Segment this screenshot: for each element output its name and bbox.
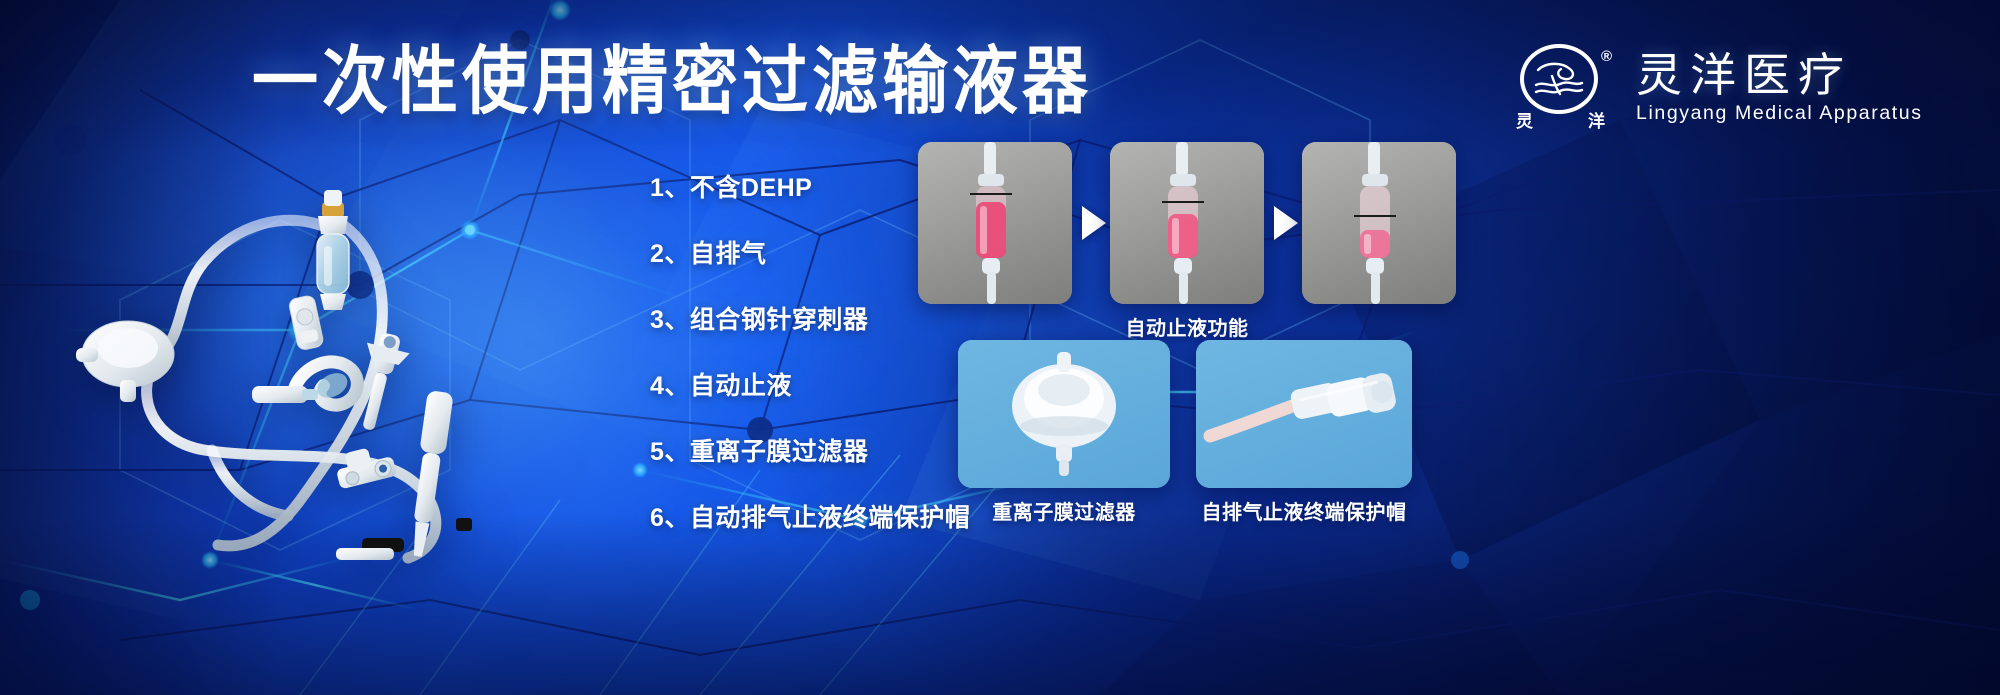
registered-trademark-icon: ® <box>1601 48 1612 65</box>
gallery-caption-cap: 自排气止液终端保护帽 <box>1182 496 1426 525</box>
gallery-frame-3 <box>1302 142 1456 304</box>
drip-chamber-photo-2 <box>1110 142 1264 304</box>
logo-ring-icon <box>1520 44 1598 114</box>
drip-chamber-photo-3 <box>1302 142 1456 304</box>
drip-chamber-photo-1 <box>918 142 1072 304</box>
gallery-caption-filter: 重离子膜过滤器 <box>958 496 1170 525</box>
feature-item-5: 5、重离子膜过滤器 <box>650 440 980 465</box>
gallery-sequence-caption: 自动止液功能 <box>1110 312 1264 341</box>
brand-logo: ® 灵 洋 灵洋医疗 Lingyang Medical Apparatus <box>1506 44 1923 132</box>
terminal-cap-graphic <box>1196 340 1412 488</box>
logo-emblem-char-left: 灵 <box>1516 107 1534 132</box>
brand-name-en: Lingyang Medical Apparatus <box>1636 102 1923 125</box>
filter-photo <box>958 340 1170 488</box>
infusion-set-illustration <box>36 150 676 570</box>
logo-wave-icon <box>1530 56 1588 102</box>
page-title: 一次性使用精密过滤输液器 <box>252 44 1092 118</box>
gallery-frame-cap <box>1196 340 1412 488</box>
terminal-cap-photo <box>1196 340 1412 488</box>
drip-chamber-graphic-1 <box>918 142 1072 304</box>
membrane-filter-graphic <box>958 340 1170 488</box>
feature-item-4: 4、自动止液 <box>650 374 980 399</box>
drip-chamber-graphic-2 <box>1110 142 1264 304</box>
gallery-frame-filter <box>958 340 1170 488</box>
feature-item-3: 3、组合钢针穿刺器 <box>650 308 980 333</box>
product-photo <box>36 150 676 570</box>
brand-wordmark: 灵洋医疗 Lingyang Medical Apparatus <box>1636 51 1923 124</box>
banner-root: 一次性使用精密过滤输液器 ® 灵 洋 灵洋医疗 <box>0 0 2000 695</box>
logo-emblem-char-right: 洋 <box>1588 107 1606 132</box>
sequence-arrow-1 <box>1082 206 1106 240</box>
brand-name-cn: 灵洋医疗 <box>1636 51 1923 99</box>
drip-chamber-graphic-3 <box>1302 142 1456 304</box>
logo-emblem-caption: 灵 洋 <box>1516 107 1606 132</box>
gallery-frame-1 <box>918 142 1072 304</box>
gallery-frame-2 <box>1110 142 1264 304</box>
feature-item-6: 6、自动排气止液终端保护帽 <box>650 506 980 531</box>
logo-emblem: ® 灵 洋 <box>1506 44 1614 132</box>
sequence-arrow-2 <box>1274 206 1298 240</box>
